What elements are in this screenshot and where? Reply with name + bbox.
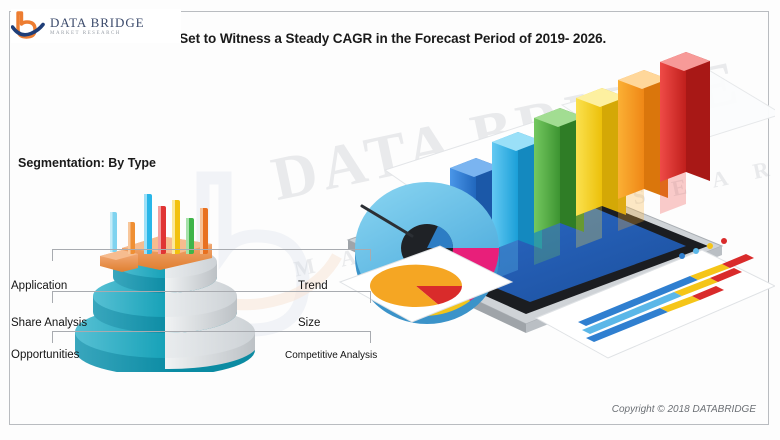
segmentation-pyramid [60,182,270,372]
segment-label-application: Application [11,280,67,292]
tablet-chart-illustration [330,50,775,370]
segment-label-trend: Trend [298,280,328,292]
logo-title: DATA BRIDGE [50,16,144,29]
slide-canvas: DATA BRIDGE M A R K E T R E S E A R C H [0,0,780,440]
copyright-text: Copyright © 2018 DATABRIDGE [612,404,756,415]
logo-subtitle: MARKET RESEARCH [50,31,144,36]
page-title: Market is Set to Witness a Steady CAGR i… [118,31,606,46]
segment-label-size: Size [298,317,320,329]
data-bridge-logo-icon [11,11,45,41]
segment-label-competitive-analysis: Competitive Analysis [285,350,377,361]
segment-label-share-analysis: Share Analysis [11,317,87,329]
segment-label-opportunities: Opportunities [11,349,79,361]
segmentation-heading: Segmentation: By Type [18,156,156,170]
brand-logo[interactable]: DATA BRIDGE MARKET RESEARCH [11,9,181,43]
